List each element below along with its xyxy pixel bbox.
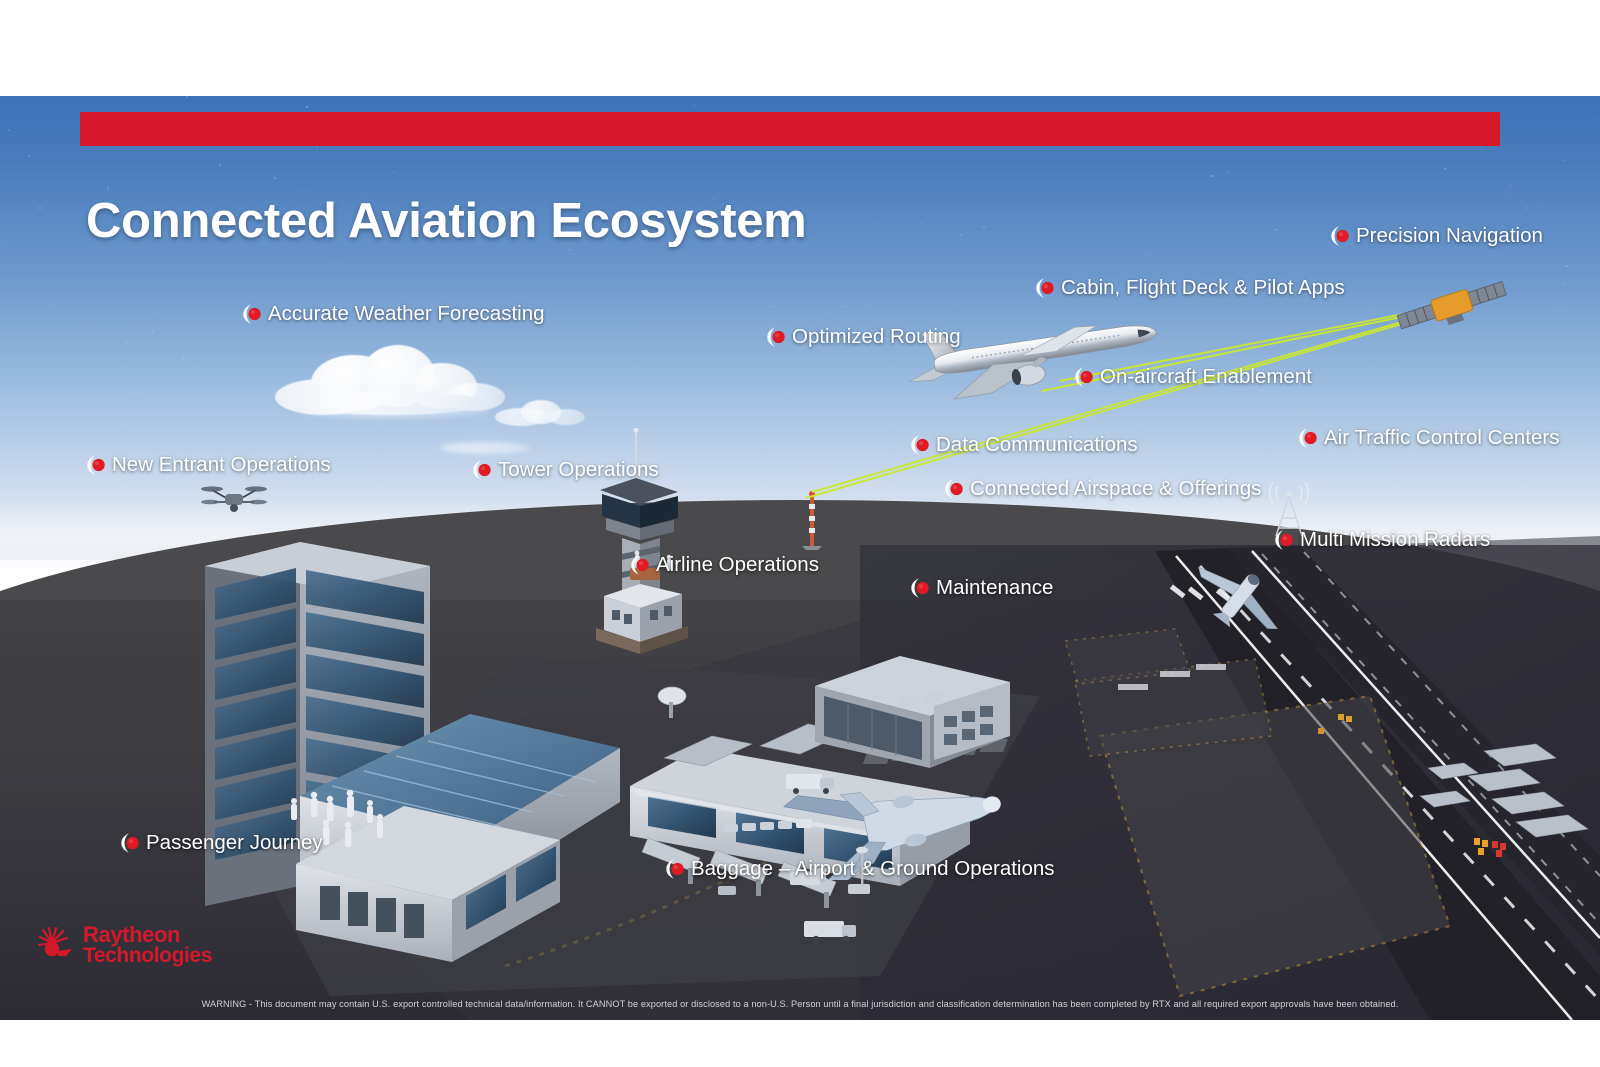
landing-airliner <box>1182 560 1302 632</box>
service-truck <box>798 915 862 945</box>
signal-marker-icon <box>240 301 266 327</box>
callout-air-traffic-control-centers[interactable]: Air Traffic Control Centers <box>1296 425 1559 451</box>
callout-multi-mission-radars[interactable]: Multi Mission Radars <box>1272 527 1490 553</box>
callout-cabin-flight-deck-pilot-apps[interactable]: Cabin, Flight Deck & Pilot Apps <box>1033 275 1345 301</box>
callout-label: Maintenance <box>936 578 1053 599</box>
raytheon-starburst-icon <box>36 925 76 965</box>
signal-marker-icon <box>118 830 144 856</box>
signal-marker-icon <box>1296 425 1322 451</box>
callout-tower-operations[interactable]: Tower Operations <box>470 457 659 483</box>
callout-label: Cabin, Flight Deck & Pilot Apps <box>1061 278 1345 299</box>
callout-label: Airline Operations <box>656 555 819 576</box>
signal-marker-icon <box>908 575 934 601</box>
callout-passenger-journey[interactable]: Passenger Journey <box>118 830 323 856</box>
callout-label: Connected Airspace & Offerings <box>970 479 1261 500</box>
callout-label: Accurate Weather Forecasting <box>268 304 545 325</box>
callout-label: Multi Mission Radars <box>1300 530 1490 551</box>
callout-label: Passenger Journey <box>146 833 323 854</box>
page-title: Connected Aviation Ecosystem <box>86 193 806 249</box>
logo-line-1: Raytheon <box>83 925 212 946</box>
callout-accurate-weather-forecasting[interactable]: Accurate Weather Forecasting <box>240 301 545 327</box>
callout-connected-airspace-offerings[interactable]: Connected Airspace & Offerings <box>942 476 1261 502</box>
header-accent-bar <box>80 112 1500 146</box>
apron-light-pole <box>855 845 869 887</box>
callout-label: Baggage – Airport & Ground Operations <box>691 859 1055 880</box>
callout-precision-navigation[interactable]: Precision Navigation <box>1328 223 1543 249</box>
logo-line-2: Technologies <box>83 946 212 966</box>
slide-canvas: Connected Aviation Ecosystem Precision N… <box>0 0 1600 1067</box>
page-margin-bottom <box>0 1020 1600 1067</box>
comm-mast-icon <box>796 490 828 552</box>
callout-optimized-routing[interactable]: Optimized Routing <box>764 324 961 350</box>
export-control-warning: WARNING - This document may contain U.S.… <box>0 999 1600 1009</box>
apron-truck <box>782 768 852 798</box>
callout-label: Data Communications <box>936 435 1138 456</box>
signal-marker-icon <box>663 856 689 882</box>
callout-label: New Entrant Operations <box>112 455 331 476</box>
signal-marker-icon <box>908 432 934 458</box>
baggage-train <box>724 816 814 838</box>
signal-marker-icon <box>1072 364 1098 390</box>
callout-label: Air Traffic Control Centers <box>1324 428 1559 449</box>
signal-marker-icon <box>470 457 496 483</box>
callout-new-entrant-operations[interactable]: New Entrant Operations <box>84 452 331 478</box>
raytheon-technologies-logo[interactable]: Raytheon Technologies <box>36 925 212 965</box>
callout-label: On-aircraft Enablement <box>1100 367 1312 388</box>
signal-marker-icon <box>1328 223 1354 249</box>
callout-on-aircraft-enablement[interactable]: On-aircraft Enablement <box>1072 364 1312 390</box>
callout-label: Optimized Routing <box>792 327 961 348</box>
quadcopter-drone-icon <box>196 478 272 516</box>
signal-marker-icon <box>1033 275 1059 301</box>
callout-airline-operations[interactable]: Airline Operations <box>628 552 819 578</box>
signal-marker-icon <box>1272 527 1298 553</box>
signal-marker-icon <box>764 324 790 350</box>
signal-marker-icon <box>942 476 968 502</box>
signal-marker-icon <box>628 552 654 578</box>
signal-marker-icon <box>84 452 110 478</box>
callout-label: Tower Operations <box>498 460 659 481</box>
callout-data-communications[interactable]: Data Communications <box>908 432 1138 458</box>
page-margin-top <box>0 0 1600 96</box>
callout-maintenance[interactable]: Maintenance <box>908 575 1053 601</box>
callout-label: Precision Navigation <box>1356 226 1543 247</box>
satellite-icon <box>1392 276 1514 342</box>
